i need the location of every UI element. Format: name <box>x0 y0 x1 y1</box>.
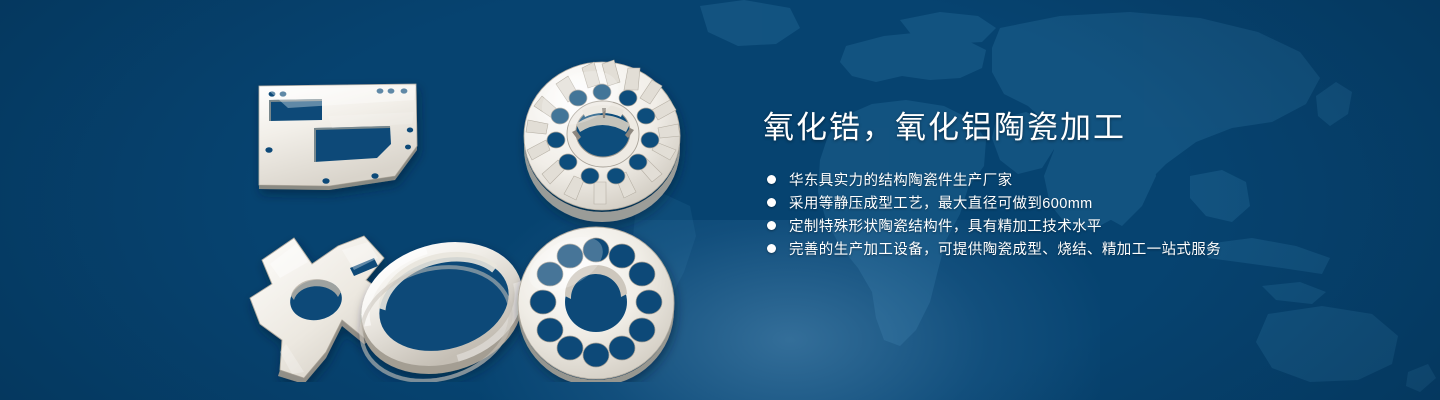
ceramic-plate-with-cutouts <box>259 84 417 190</box>
banner-copy-block: 氧化锆，氧化铝陶瓷加工 华东具实力的结构陶瓷件生产厂家 采用等静压成型工艺，最大… <box>763 108 1363 276</box>
bullet-dot-icon <box>767 198 776 207</box>
list-item: 华东具实力的结构陶瓷件生产厂家 <box>767 168 1363 191</box>
ceramic-perforated-disc <box>518 226 674 382</box>
product-photo-cluster <box>228 38 700 382</box>
list-item: 完善的生产加工设备，可提供陶瓷成型、烧结、精加工一站式服务 <box>767 237 1363 260</box>
bullet-dot-icon <box>767 221 776 230</box>
feature-text: 华东具实力的结构陶瓷件生产厂家 <box>789 169 1013 190</box>
bullet-dot-icon <box>767 244 776 253</box>
feature-text: 完善的生产加工设备，可提供陶瓷成型、烧结、精加工一站式服务 <box>789 238 1221 259</box>
hero-banner: 氧化锆，氧化铝陶瓷加工 华东具实力的结构陶瓷件生产厂家 采用等静压成型工艺，最大… <box>0 0 1440 400</box>
ceramic-impeller-disc <box>524 60 680 222</box>
ceramic-ring <box>347 224 538 382</box>
feature-list: 华东具实力的结构陶瓷件生产厂家 采用等静压成型工艺，最大直径可做到600mm 定… <box>767 168 1363 260</box>
feature-text: 采用等静压成型工艺，最大直径可做到600mm <box>789 192 1093 213</box>
list-item: 采用等静压成型工艺，最大直径可做到600mm <box>767 191 1363 214</box>
bullet-dot-icon <box>767 175 776 184</box>
feature-text: 定制特殊形状陶瓷结构件，具有精加工技术水平 <box>789 215 1102 236</box>
banner-title: 氧化锆，氧化铝陶瓷加工 <box>763 108 1363 148</box>
list-item: 定制特殊形状陶瓷结构件，具有精加工技术水平 <box>767 214 1363 237</box>
